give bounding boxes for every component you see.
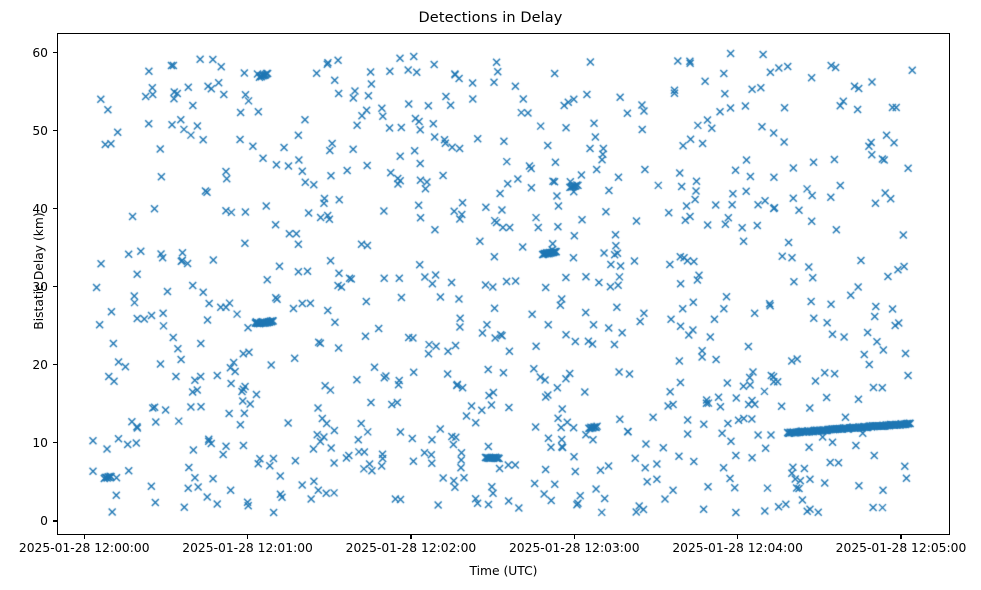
- x-tick-mark: [247, 535, 248, 539]
- y-axis-label: Bistatic Delay (km): [32, 20, 46, 522]
- x-tick-label: 2025-01-28 12:01:00: [182, 541, 313, 555]
- y-tick-mark: [53, 520, 57, 521]
- y-tick-mark: [53, 364, 57, 365]
- plot-area: [57, 33, 950, 535]
- page-title: Detections in Delay: [0, 10, 981, 26]
- x-tick-mark: [574, 535, 575, 539]
- y-tick-mark: [53, 286, 57, 287]
- y-tick-mark: [53, 52, 57, 53]
- figure: Detections in Delay 2025-01-28 12:00:002…: [0, 0, 981, 590]
- scatter-plot-canvas: [58, 34, 950, 535]
- y-tick-mark: [53, 130, 57, 131]
- y-tick-mark: [53, 208, 57, 209]
- x-tick-mark: [410, 535, 411, 539]
- x-tick-mark: [900, 535, 901, 539]
- x-tick-mark: [737, 535, 738, 539]
- x-tick-label: 2025-01-28 12:02:00: [346, 541, 477, 555]
- x-tick-label: 2025-01-28 12:00:00: [19, 541, 150, 555]
- x-tick-mark: [84, 535, 85, 539]
- x-tick-label: 2025-01-28 12:04:00: [672, 541, 803, 555]
- x-tick-label: 2025-01-28 12:05:00: [836, 541, 967, 555]
- x-tick-label: 2025-01-28 12:03:00: [509, 541, 640, 555]
- x-axis-label: Time (UTC): [57, 564, 950, 578]
- y-tick-mark: [53, 442, 57, 443]
